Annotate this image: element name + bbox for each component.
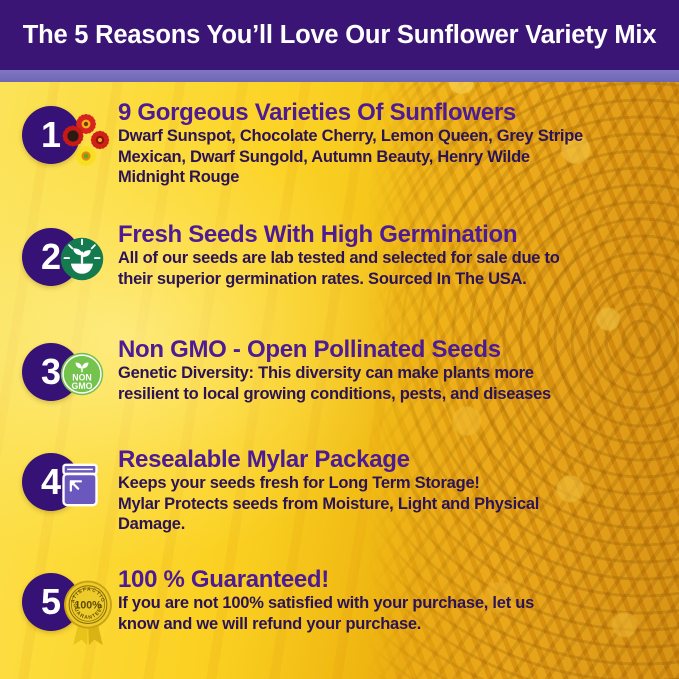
satisfaction-guarantee-seal-icon: SATISFACTION GUARANTEED 100% bbox=[60, 577, 114, 639]
seal-center-text: 100% bbox=[74, 599, 102, 611]
reason-row-5: 5 bbox=[0, 567, 679, 634]
reason-row-2: 2 bbox=[0, 222, 679, 289]
reason-1-line-1: Dwarf Sunspot, Chocolate Cherry, Lemon Q… bbox=[118, 126, 671, 146]
reason-row-4: 4 Resealable Mylar Package Keeps your se… bbox=[0, 447, 679, 534]
reason-4-icon-slot bbox=[58, 455, 116, 517]
reason-4-line-3: Damage. bbox=[118, 514, 671, 534]
mylar-pouch-icon bbox=[58, 459, 102, 511]
reason-1-line-3: Midnight Rouge bbox=[118, 167, 671, 187]
reason-3-text: Non GMO - Open Pollinated Seeds Genetic … bbox=[118, 337, 679, 404]
reasons-list: 1 bbox=[0, 82, 679, 679]
reason-4-line-2: Mylar Protects seeds from Moisture, Ligh… bbox=[118, 494, 671, 514]
reason-3-title: Non GMO - Open Pollinated Seeds bbox=[118, 337, 671, 362]
reason-4-text: Resealable Mylar Package Keeps your seed… bbox=[118, 447, 679, 534]
reason-2-line-1: All of our seeds are lab tested and sele… bbox=[118, 248, 671, 268]
non-gmo-badge-icon: NON GMO bbox=[58, 350, 106, 398]
reason-5-text: 100 % Guaranteed! If you are not 100% sa… bbox=[118, 567, 679, 634]
reason-5-line-2: know and we will refund your purchase. bbox=[118, 614, 671, 634]
header-bar: The 5 Reasons You’ll Love Our Sunflower … bbox=[0, 0, 679, 70]
reason-3-line-2: resilient to local growing conditions, p… bbox=[118, 384, 671, 404]
reason-4-title: Resealable Mylar Package bbox=[118, 447, 671, 472]
non-gmo-bottom-text: GMO bbox=[72, 381, 93, 391]
reason-1-icon-slot bbox=[58, 108, 116, 170]
reason-3-line-1: Genetic Diversity: This diversity can ma… bbox=[118, 363, 671, 383]
reason-row-1: 1 bbox=[0, 100, 679, 187]
reason-2-icon-slot bbox=[58, 230, 116, 292]
reason-5-icon-slot: SATISFACTION GUARANTEED 100% bbox=[58, 575, 116, 637]
sunflower-cluster-icon bbox=[58, 108, 116, 168]
sunflower-variety-mix-infographic: The 5 Reasons You’ll Love Our Sunflower … bbox=[0, 0, 679, 679]
seedling-sprout-icon bbox=[58, 235, 106, 283]
header-accent-band bbox=[0, 70, 679, 82]
reason-2-line-2: their superior germination rates. Source… bbox=[118, 269, 671, 289]
reason-1-title: 9 Gorgeous Varieties Of Sunflowers bbox=[118, 100, 671, 125]
reason-1-text: 9 Gorgeous Varieties Of Sunflowers Dwarf… bbox=[118, 100, 679, 187]
reason-5-line-1: If you are not 100% satisfied with your … bbox=[118, 593, 671, 613]
reason-5-title: 100 % Guaranteed! bbox=[118, 567, 671, 592]
reason-1-line-2: Mexican, Dwarf Sungold, Autumn Beauty, H… bbox=[118, 147, 671, 167]
reason-2-text: Fresh Seeds With High Germination All of… bbox=[118, 222, 679, 289]
reason-row-3: 3 NON GMO Non GMO - Open Pollinated Seed bbox=[0, 337, 679, 404]
reason-2-title: Fresh Seeds With High Germination bbox=[118, 222, 671, 247]
page-title: The 5 Reasons You’ll Love Our Sunflower … bbox=[23, 21, 657, 50]
reason-3-icon-slot: NON GMO bbox=[58, 345, 116, 407]
reason-4-line-1: Keeps your seeds fresh for Long Term Sto… bbox=[118, 473, 671, 493]
